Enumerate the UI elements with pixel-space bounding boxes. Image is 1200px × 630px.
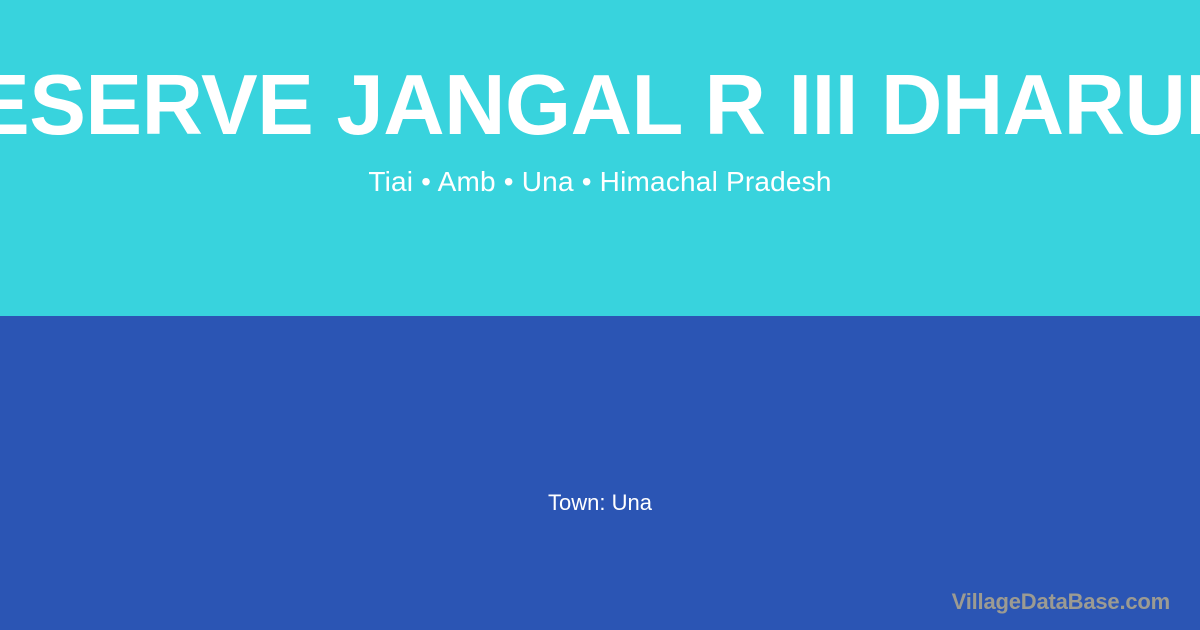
header-banner-content: RESERVE JANGAL R III DHARUI E Tiai • Amb…: [0, 0, 1200, 316]
header-banner: RESERVE JANGAL R III DHARUI E Tiai • Amb…: [0, 0, 1200, 316]
body-panel: Town: Una VillageDataBase.com: [0, 316, 1200, 630]
village-info-card: RESERVE JANGAL R III DHARUI E Tiai • Amb…: [0, 0, 1200, 630]
town-label: Town: Una: [0, 488, 1200, 518]
breadcrumb: Tiai • Amb • Una • Himachal Pradesh: [368, 162, 831, 202]
page-title: RESERVE JANGAL R III DHARUI E: [0, 58, 1200, 154]
site-watermark: VillageDataBase.com: [952, 588, 1170, 616]
